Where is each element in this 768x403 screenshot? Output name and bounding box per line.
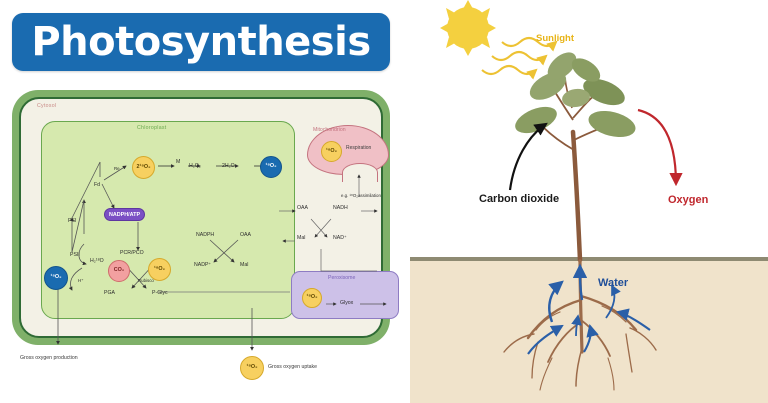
page-title-banner: Photosynthesis (12, 13, 390, 71)
oxygen-arrow (638, 110, 676, 184)
legend-gross-oxygen-production: Gross oxygen production (20, 355, 78, 361)
water-uptake-arrows (528, 266, 650, 354)
legend-gross-oxygen-uptake: Gross oxygen uptake (268, 364, 317, 370)
plant-scene-graphics (410, 0, 768, 403)
sunlight-label: Sunlight (536, 33, 574, 44)
carbon-dioxide-label: Carbon dioxide (479, 193, 559, 205)
carbon-dioxide-arrow (510, 124, 546, 190)
page-title: Photosynthesis (31, 22, 370, 62)
molecule-o2-uptake-water: ¹⁸O₂ (44, 266, 68, 290)
molecule-o2-legend-uptake: ¹⁸O₂ (240, 356, 264, 380)
water-label: Water (598, 277, 628, 289)
plant-graphic (511, 47, 638, 260)
oxygen-label: Oxygen (668, 194, 708, 206)
sun-icon (440, 0, 496, 56)
cell-diagram-panel: Cytosol Chloroplast (0, 78, 404, 403)
plant-illustration-panel: Sunlight Carbon dioxide Oxygen Water (410, 0, 768, 403)
